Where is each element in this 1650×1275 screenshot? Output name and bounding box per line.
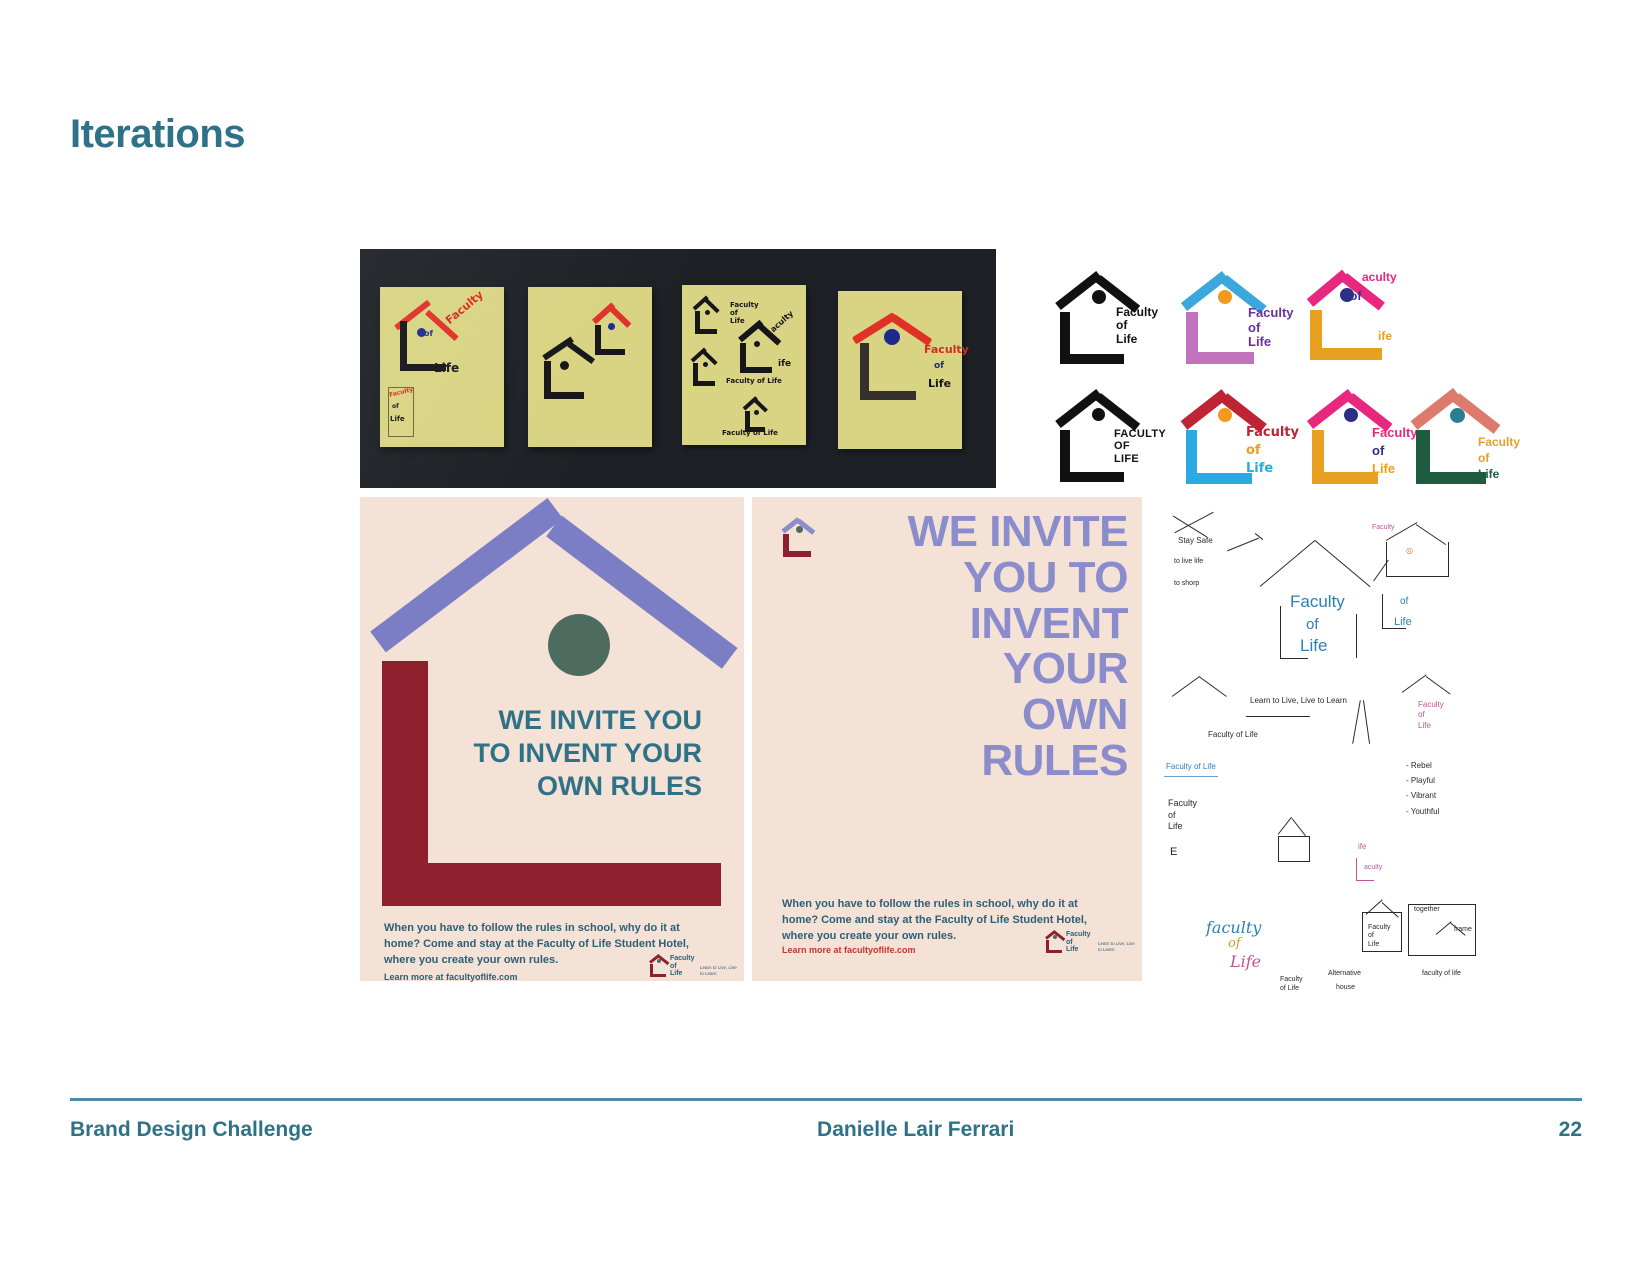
sticky3-word-life: ife — [778, 359, 791, 369]
sketch-word-life: Life — [1300, 636, 1327, 656]
poster2-headline: WE INVITE YOU TO INVENT YOUR OWN RULES — [766, 509, 1128, 784]
logo-6-word-life: Life — [1372, 462, 1395, 477]
logo-3-word-of: of — [1350, 290, 1361, 303]
logo-7-word-life: Life — [1478, 468, 1499, 481]
sketch-script-of: of — [1228, 936, 1241, 951]
sticky1-word-life: Life — [434, 361, 459, 375]
poster1-logo-lockup: FacultyofLife Learn to Live, Live to Lea… — [648, 953, 738, 979]
logo-variations-grid: FacultyofLife FacultyofLife aculty — [1040, 262, 1500, 484]
sticky-note-3: FacultyofLife Faculty of Life aculty ife — [682, 285, 806, 445]
logo-6-word-faculty: Faculty — [1372, 426, 1418, 441]
sticky1-mini-of: of — [392, 403, 399, 410]
sketch-board: Stay Safe to live life to shorp Faculty … — [1150, 500, 1510, 1000]
sticky1-mini-life: Life — [390, 415, 405, 423]
footer-divider — [70, 1098, 1582, 1101]
sketch-note-house: house — [1336, 984, 1355, 991]
sketch-note-faculty-of-life-1: Faculty of Life — [1208, 730, 1258, 739]
sketch-note-faculty-of-life-5: Facultyof Life — [1280, 976, 1303, 994]
sketch-note-alternative: Alternative — [1328, 970, 1361, 977]
poster2-logo-lockup: FacultyofLife Learn to Live, Live to Lea… — [1044, 929, 1136, 957]
sketch-script-life: Life — [1230, 952, 1261, 971]
footer-author-name: Danielle Lair Ferrari — [273, 1118, 1559, 1142]
page-title: Iterations — [70, 112, 245, 157]
sticky1-word-of: of — [424, 329, 433, 338]
sketch-note-learn: Learn to Live, Live to Learn — [1250, 696, 1347, 705]
logo-5-word-of: of — [1246, 444, 1261, 459]
logo-3-word-life: ife — [1378, 330, 1392, 343]
poster1-tagline: Learn to Live, Live to Learn — [700, 965, 738, 977]
sticky4-word-faculty: Faculty — [924, 343, 969, 356]
poster1-headline: WE INVITE YOU TO INVENT YOUR OWN RULES — [406, 704, 702, 803]
footer-page-number: 22 — [1559, 1118, 1582, 1142]
sketch-note-a: to live life — [1174, 558, 1203, 565]
logo-coral-forest: Faculty of Life — [1412, 378, 1542, 484]
footer: Brand Design Challenge Danielle Lair Fer… — [70, 1118, 1582, 1142]
sketch-note-c: Faculty — [1372, 524, 1395, 531]
sketch-note-e: of — [1400, 596, 1408, 607]
logo-2-wordmark: FacultyofLife — [1248, 306, 1294, 350]
sketch-note-together: together — [1414, 906, 1440, 913]
sketch-note-frame: frame — [1454, 926, 1472, 933]
logo-black-rounded: FacultyofLife — [1058, 268, 1188, 364]
logo-pink-amber: aculty of ife — [1310, 268, 1450, 364]
sketch-note-faculty-of-life-3: FacultyofLife — [1168, 798, 1197, 833]
sketch-note-aculty: aculty — [1364, 864, 1382, 871]
logo-7-word-of: of — [1478, 452, 1489, 465]
sticky-note-1: Faculty of Life Faculty of Life — [380, 287, 504, 447]
sketch-note-b: to shorp — [1174, 580, 1199, 587]
sticky-notes-photo: Faculty of Life Faculty of Life — [360, 249, 996, 488]
sticky-note-4: Faculty of Life — [838, 291, 962, 449]
sketch-script-faculty: faculty — [1206, 918, 1261, 937]
poster2-learn-more: Learn more at facultyoflife.com — [782, 945, 916, 955]
slide: Iterations Faculty of Life Faculty of Li… — [0, 0, 1650, 1275]
sticky-note-2 — [528, 287, 652, 447]
logo-black-condensed: FACULTYOFLIFE — [1058, 388, 1188, 484]
poster-invite-house: WE INVITE YOU TO INVENT YOUR OWN RULES W… — [360, 497, 744, 981]
poster1-logo-words: FacultyofLife — [670, 955, 695, 978]
sketch-note-stay-safe: Stay Safe — [1178, 536, 1213, 545]
sketch-glyph-e: E — [1170, 846, 1177, 858]
logo-blue-orchid: FacultyofLife — [1184, 268, 1314, 364]
sketch-note-faculty-of-life-4: FacultyofLife — [1418, 700, 1444, 731]
poster1-learn-more: Learn more at facultyoflife.com — [384, 972, 518, 982]
sketch-note-ife: ife — [1358, 842, 1366, 851]
logo-5-word-life: Life — [1246, 462, 1273, 477]
poster-invite-typographic: WE INVITE YOU TO INVENT YOUR OWN RULES W… — [752, 497, 1142, 981]
sketch-note-faculty-of-life-7: faculty of life — [1422, 970, 1461, 977]
sticky3-label-3: Faculty of Life — [722, 429, 778, 437]
logo-3-word-faculty: aculty — [1362, 271, 1397, 284]
sticky4-word-life: Life — [928, 377, 951, 390]
poster2-logo-words: FacultyofLife — [1066, 931, 1091, 954]
sticky4-word-of: of — [934, 361, 944, 371]
sketch-note-d: ◎ — [1406, 546, 1413, 555]
sketch-note-f: Life — [1394, 616, 1412, 628]
logo-4-wordmark: FACULTYOFLIFE — [1114, 428, 1166, 465]
sticky3-label-2: Faculty of Life — [726, 377, 782, 385]
sketch-note-faculty-of-life-2: Faculty of Life — [1166, 762, 1216, 771]
sketch-word-of: of — [1306, 616, 1319, 633]
logo-7-word-faculty: Faculty — [1478, 436, 1520, 449]
logo-6-word-of: of — [1372, 444, 1384, 459]
logo-crimson-cyan: Faculty of Life — [1184, 388, 1314, 484]
sketch-note-faculty-of-life-6: FacultyofLife — [1368, 924, 1391, 949]
poster2-tagline: Learn to Live, Live to Learn — [1098, 941, 1136, 953]
sketch-word-faculty: Faculty — [1290, 592, 1345, 612]
logo-1-wordmark: FacultyofLife — [1116, 306, 1158, 346]
logo-5-word-faculty: Faculty — [1246, 426, 1299, 441]
sketch-keyword-list: - Rebel- Playful- Vibrant- Youthful — [1406, 758, 1439, 819]
